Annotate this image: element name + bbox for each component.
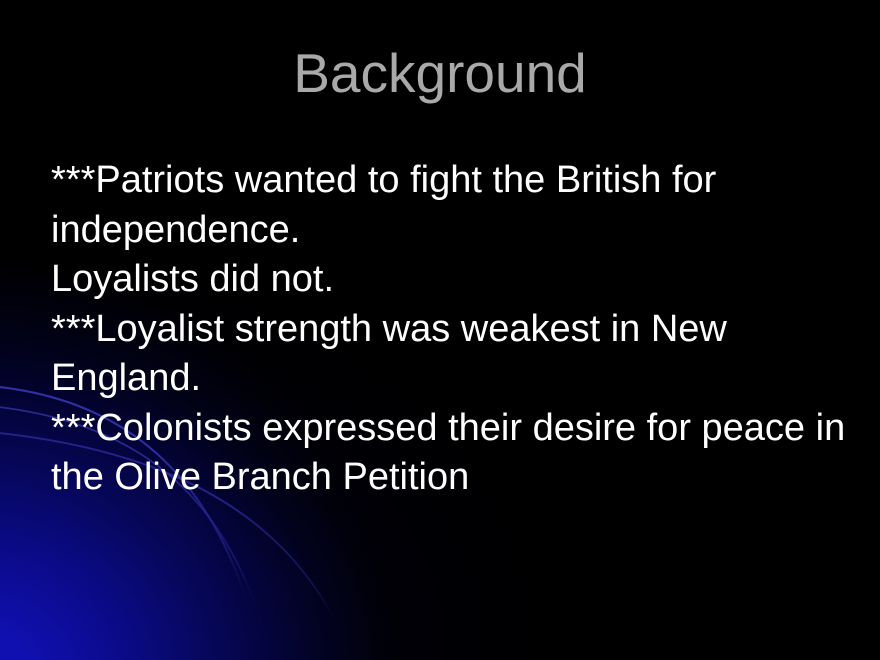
slide-body-text: ***Patriots wanted to fight the British … bbox=[51, 156, 861, 503]
slide-title: Background bbox=[0, 44, 880, 103]
presentation-slide: Background ***Patriots wanted to fight t… bbox=[0, 0, 880, 660]
